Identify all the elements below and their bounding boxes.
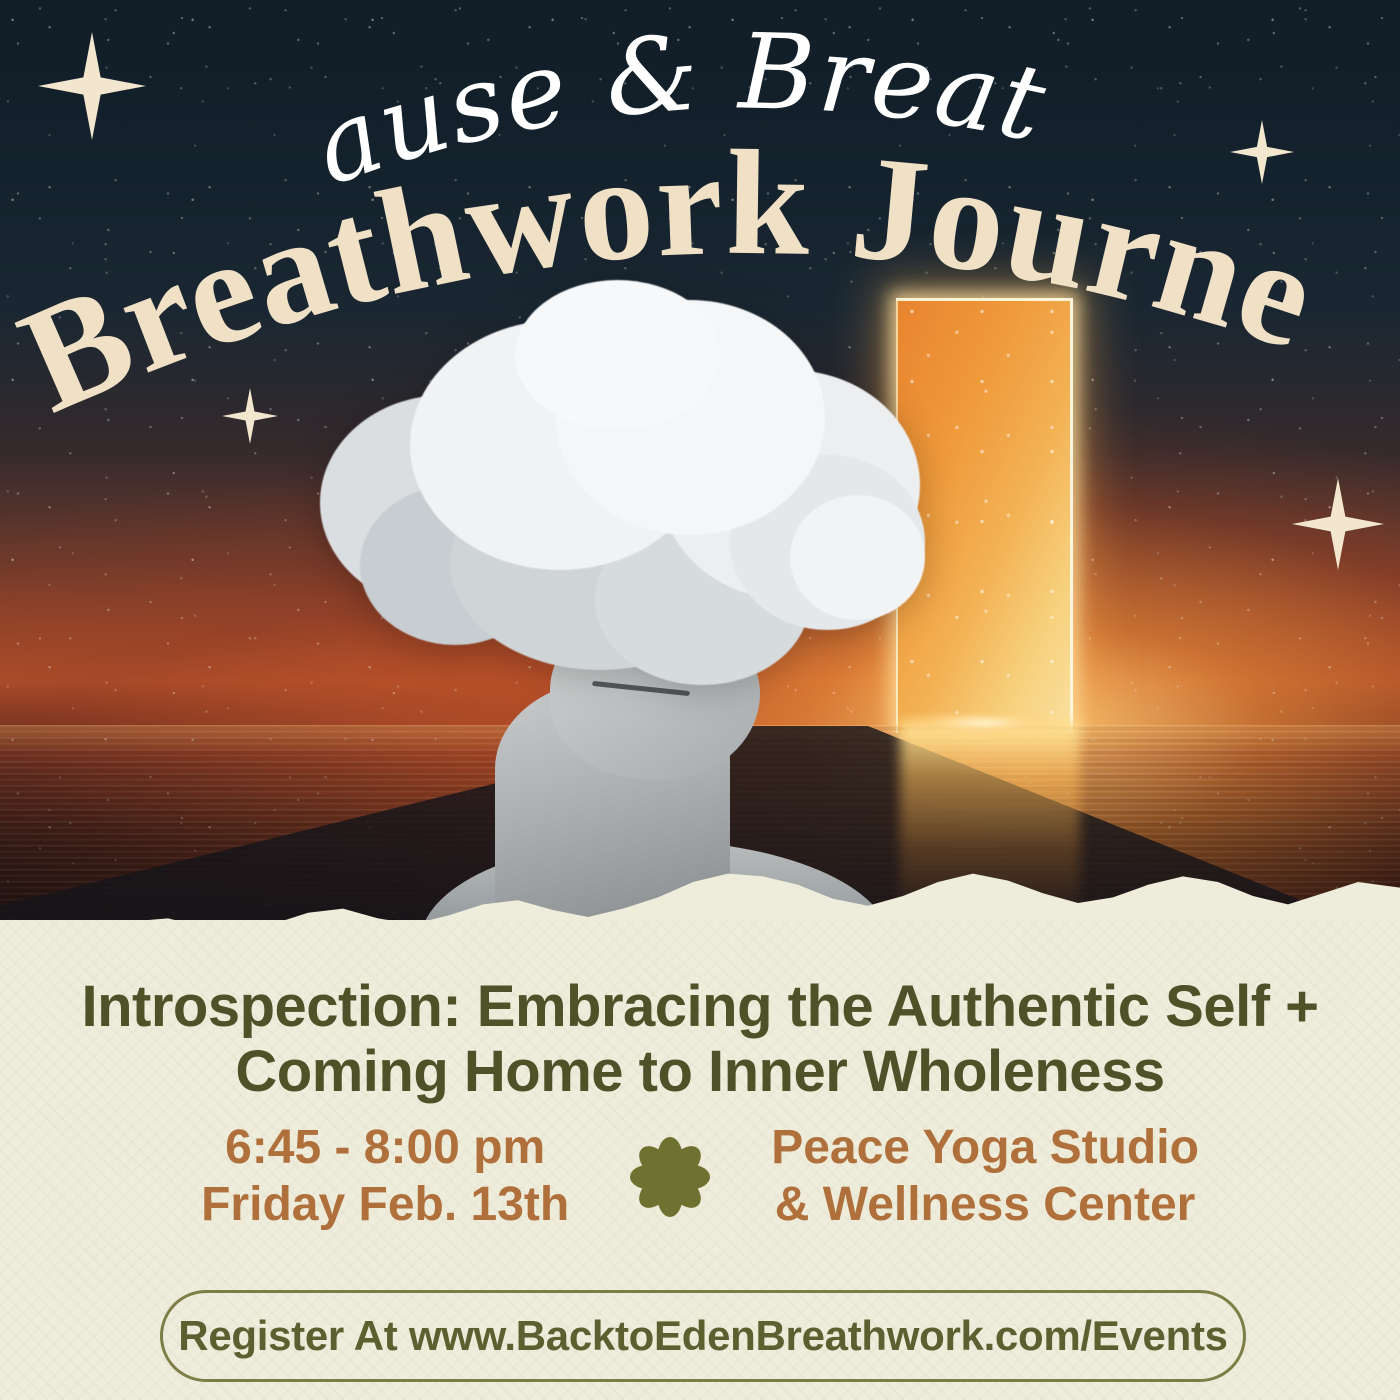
- title-arc-group: Pause & Breathe Breathwork Journey: [0, 0, 1400, 430]
- register-button-label: Register At www.BacktoEdenBreathwork.com…: [178, 1312, 1227, 1360]
- headline-line-1: Introspection: Embracing the Authentic S…: [0, 975, 1400, 1040]
- event-details: 6:45 - 8:00 pm Friday Feb. 13th Peace Yo…: [0, 1120, 1400, 1233]
- info-panel: Introspection: Embracing the Authentic S…: [0, 920, 1400, 1400]
- event-date: Friday Feb. 13th: [201, 1177, 569, 1234]
- poster-canvas: Pause & Breathe Breathwork Journey Intro…: [0, 0, 1400, 1400]
- flower-icon: [627, 1129, 713, 1225]
- sparkle-right-icon: [1292, 478, 1384, 570]
- venue-line-2: & Wellness Center: [771, 1177, 1199, 1234]
- page-title: Introspection: Embracing the Authentic S…: [0, 975, 1400, 1105]
- headline-line-2: Coming Home to Inner Wholeness: [0, 1040, 1400, 1105]
- flower-center: [663, 1169, 678, 1184]
- event-time: 6:45 - 8:00 pm: [201, 1120, 569, 1177]
- event-datetime: 6:45 - 8:00 pm Friday Feb. 13th: [201, 1120, 569, 1233]
- venue-line-1: Peace Yoga Studio: [771, 1120, 1199, 1177]
- register-button[interactable]: Register At www.BacktoEdenBreathwork.com…: [160, 1290, 1246, 1382]
- cloud-blob: [790, 495, 925, 620]
- night-sky-scene: Pause & Breathe Breathwork Journey: [0, 0, 1400, 940]
- event-venue: Peace Yoga Studio & Wellness Center: [771, 1120, 1199, 1233]
